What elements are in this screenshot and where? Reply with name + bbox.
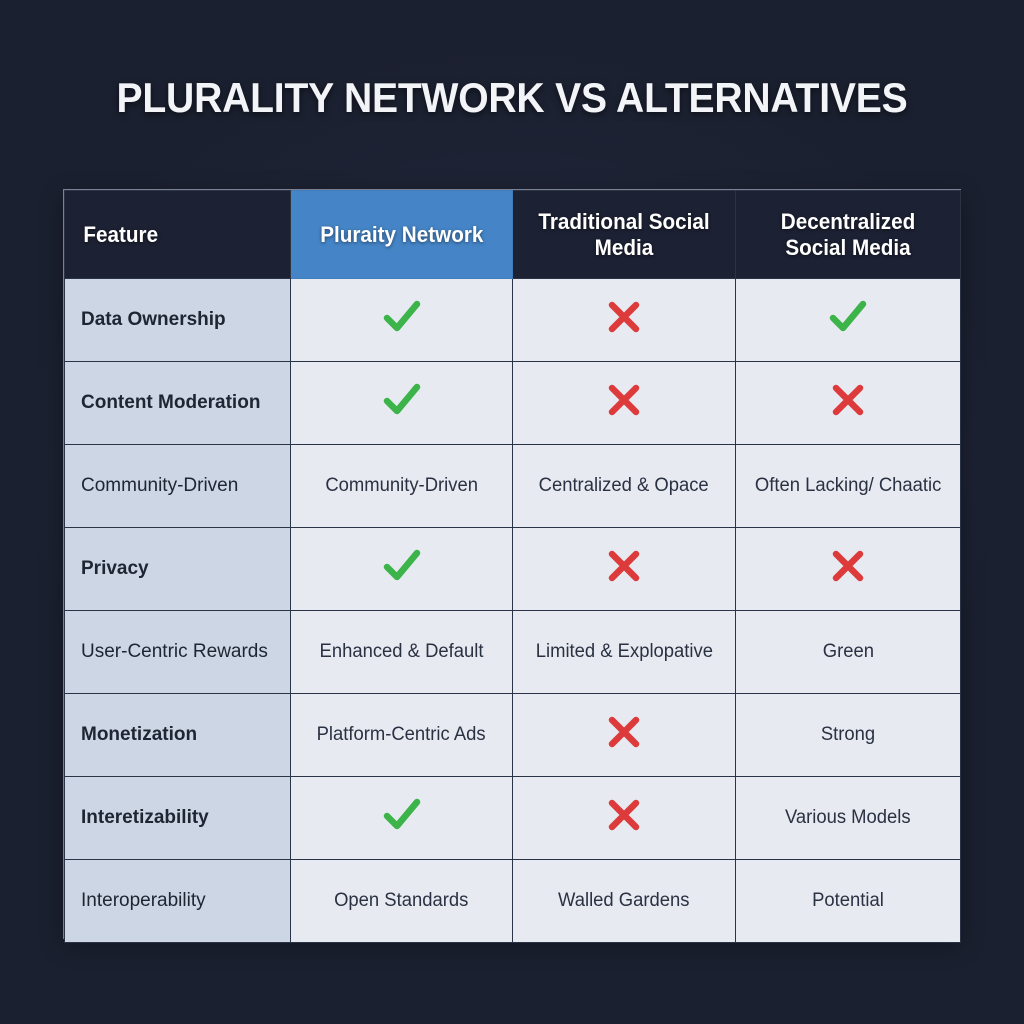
value-text: Often Lacking/ Chaatic <box>755 474 941 497</box>
value-cell <box>291 528 513 611</box>
table-row: Community-DrivenCommunity-DrivenCentrali… <box>65 445 961 528</box>
feature-label-cell: Interoperability <box>65 860 291 943</box>
value-cell: Potential <box>736 860 961 943</box>
check-icon <box>382 299 422 335</box>
value-cell <box>291 362 513 445</box>
feature-label-cell: Interetizability <box>65 777 291 860</box>
cross-icon <box>606 548 642 584</box>
value-text: Strong <box>821 723 875 746</box>
column-header-3[interactable]: Decentralized Social Media <box>736 191 961 279</box>
value-cell <box>291 777 513 860</box>
feature-label-cell: Monetization <box>65 694 291 777</box>
value-cell: Various Models <box>736 777 961 860</box>
value-text: Limited & Explopative <box>535 640 712 663</box>
value-cell <box>513 362 736 445</box>
feature-label-cell: User-Centric Rewards <box>65 611 291 694</box>
cross-icon <box>606 714 642 750</box>
comparison-table: FeaturePluraity NetworkTraditional Socia… <box>64 190 961 943</box>
value-cell: Walled Gardens <box>513 860 736 943</box>
value-text: Green <box>822 640 873 663</box>
cross-icon <box>830 548 866 584</box>
table-row: User-Centric RewardsEnhanced & DefaultLi… <box>65 611 961 694</box>
column-header-label: Decentralized Social Media <box>756 209 940 259</box>
value-cell <box>736 362 961 445</box>
value-text: Centralized & Opace <box>539 474 709 497</box>
column-header-label: Feature <box>83 222 158 247</box>
table-body: Data OwnershipContent ModerationCommunit… <box>65 279 961 943</box>
value-cell: Often Lacking/ Chaatic <box>736 445 961 528</box>
check-icon <box>382 797 422 833</box>
check-icon <box>382 382 422 418</box>
check-icon <box>828 299 868 335</box>
value-cell: Platform-Centric Ads <box>291 694 513 777</box>
table-row: MonetizationPlatform-Centric AdsStrong <box>65 694 961 777</box>
table-row: InteroperabilityOpen StandardsWalled Gar… <box>65 860 961 943</box>
cross-icon <box>830 382 866 418</box>
table-header: FeaturePluraity NetworkTraditional Socia… <box>65 191 961 279</box>
feature-label-cell: Data Ownership <box>65 279 291 362</box>
value-cell: Strong <box>736 694 961 777</box>
value-text: Open Standards <box>334 889 468 912</box>
feature-label-cell: Community-Driven <box>65 445 291 528</box>
value-cell: Enhanced & Default <box>291 611 513 694</box>
table-row: Content Moderation <box>65 362 961 445</box>
value-text: Various Models <box>785 806 911 829</box>
value-cell <box>513 528 736 611</box>
table-header-row: FeaturePluraity NetworkTraditional Socia… <box>65 191 961 279</box>
value-cell <box>291 279 513 362</box>
value-cell <box>513 279 736 362</box>
comparison-table-container: FeaturePluraity NetworkTraditional Socia… <box>64 190 960 938</box>
table-row: InteretizabilityVarious Models <box>65 777 961 860</box>
value-text: Walled Gardens <box>558 889 689 912</box>
value-cell <box>736 279 961 362</box>
feature-label-cell: Content Moderation <box>65 362 291 445</box>
column-header-label: Traditional Social Media <box>533 209 715 259</box>
check-icon <box>382 548 422 584</box>
cross-icon <box>606 797 642 833</box>
value-cell <box>736 528 961 611</box>
cross-icon <box>606 299 642 335</box>
value-cell <box>513 777 736 860</box>
value-cell: Centralized & Opace <box>513 445 736 528</box>
column-header-1[interactable]: Pluraity Network <box>291 191 513 279</box>
column-header-2[interactable]: Traditional Social Media <box>513 191 736 279</box>
table-row: Data Ownership <box>65 279 961 362</box>
value-text: Enhanced & Default <box>320 640 484 663</box>
feature-label-cell: Privacy <box>65 528 291 611</box>
value-cell: Community-Driven <box>291 445 513 528</box>
value-text: Community-Driven <box>325 474 478 497</box>
value-cell: Open Standards <box>291 860 513 943</box>
column-header-label: Pluraity Network <box>320 222 483 247</box>
value-cell <box>513 694 736 777</box>
value-text: Potential <box>812 889 884 912</box>
value-text: Platform-Centric Ads <box>317 723 486 746</box>
cross-icon <box>606 382 642 418</box>
page-title: PLURALITY NETWORK VS ALTERNATIVES <box>36 74 988 122</box>
value-cell: Limited & Explopative <box>513 611 736 694</box>
value-cell: Green <box>736 611 961 694</box>
table-row: Privacy <box>65 528 961 611</box>
column-header-feature[interactable]: Feature <box>65 191 291 279</box>
